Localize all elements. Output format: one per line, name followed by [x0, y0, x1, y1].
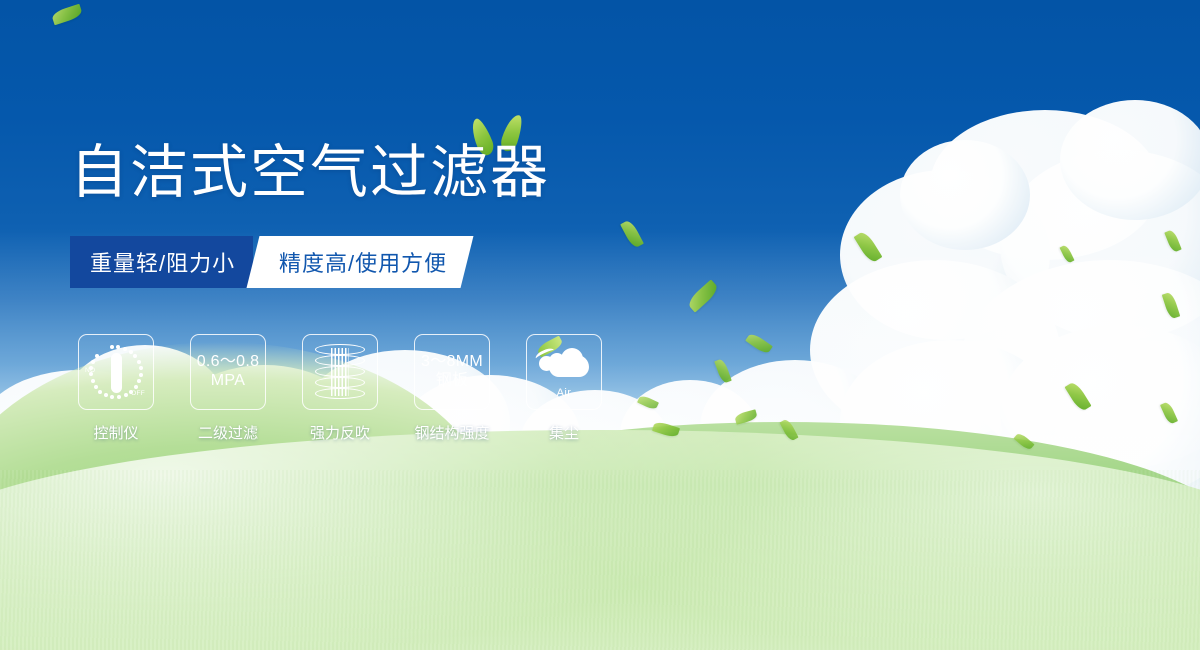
- feature-steel-strength[interactable]: 3～8MM 钢板 钢结构强度: [414, 334, 490, 443]
- dial-tick: [139, 366, 143, 370]
- badge-weight-resistance: 重量轻/阻力小: [70, 236, 253, 288]
- banner-content: 自洁式空气过滤器 重量轻/阻力小 精度高/使用方便 NO OFF 控制仪: [0, 0, 1200, 650]
- pressure-text-icon: 0.6～0.8 MPA: [197, 353, 260, 391]
- feature-list: NO OFF 控制仪 0.6～0.8 MPA 二级过滤: [78, 334, 602, 443]
- feature-caption: 控制仪: [93, 422, 138, 443]
- feature-icon-box: 0.6～0.8 MPA: [190, 334, 266, 410]
- dial-tick: [117, 395, 121, 399]
- product-banner: 自洁式空气过滤器 重量轻/阻力小 精度高/使用方便 NO OFF 控制仪: [0, 0, 1200, 650]
- dial-label-off: OFF: [131, 390, 145, 397]
- dial-tick: [110, 345, 114, 349]
- control-dial-icon: NO OFF: [85, 341, 147, 403]
- feature-controller[interactable]: NO OFF 控制仪: [78, 334, 154, 443]
- page-title: 自洁式空气过滤器: [70, 144, 550, 202]
- tagline-badges: 重量轻/阻力小 精度高/使用方便: [70, 236, 467, 288]
- dial-tick: [98, 390, 102, 394]
- feature-caption: 钢结构强度: [414, 422, 489, 443]
- feature-icon-box: [302, 334, 378, 410]
- dial-tick: [137, 379, 141, 383]
- dial-tick: [129, 350, 133, 354]
- dial-tick: [133, 354, 137, 358]
- dial-tick: [89, 372, 93, 376]
- feature-caption: 二级过滤: [198, 422, 258, 443]
- dial-tick: [134, 385, 138, 389]
- pressure-line-1: 0.6～0.8: [197, 353, 260, 372]
- feature-icon-box: Air: [526, 334, 602, 410]
- dial-tick: [94, 385, 98, 389]
- dial-tick: [123, 347, 127, 351]
- feature-two-stage-filter[interactable]: 0.6～0.8 MPA 二级过滤: [190, 334, 266, 443]
- feature-dust-collection[interactable]: Air 集尘: [526, 334, 602, 443]
- pressure-line-2: MPA: [197, 372, 260, 391]
- dial-needle: [111, 353, 122, 393]
- badge-label: 精度高/使用方便: [279, 246, 447, 278]
- badge-label: 重量轻/阻力小: [90, 246, 235, 278]
- badge-precision-ease: 精度高/使用方便: [247, 236, 474, 288]
- feature-icon-box: NO OFF: [78, 334, 154, 410]
- dial-tick: [124, 393, 128, 397]
- steel-line-1: 3～8MM: [421, 353, 483, 372]
- dial-tick: [110, 395, 114, 399]
- dial-tick: [137, 360, 141, 364]
- dial-tick: [91, 379, 95, 383]
- dial-tick: [104, 393, 108, 397]
- steel-line-2: 钢板: [421, 372, 483, 391]
- dial-tick: [139, 373, 143, 377]
- feature-back-blow[interactable]: 强力反吹: [302, 334, 378, 443]
- filter-cartridge-icon: [315, 344, 365, 400]
- feature-caption: 集尘: [549, 422, 579, 443]
- steel-plate-text-icon: 3～8MM 钢板: [421, 353, 483, 391]
- air-cloud-icon: Air: [535, 347, 593, 397]
- dial-tick: [116, 345, 120, 349]
- feature-icon-box: 3～8MM 钢板: [414, 334, 490, 410]
- feature-caption: 强力反吹: [310, 422, 370, 443]
- dial-tick: [95, 354, 99, 358]
- dial-tick: [91, 360, 95, 364]
- air-label: Air: [535, 387, 593, 399]
